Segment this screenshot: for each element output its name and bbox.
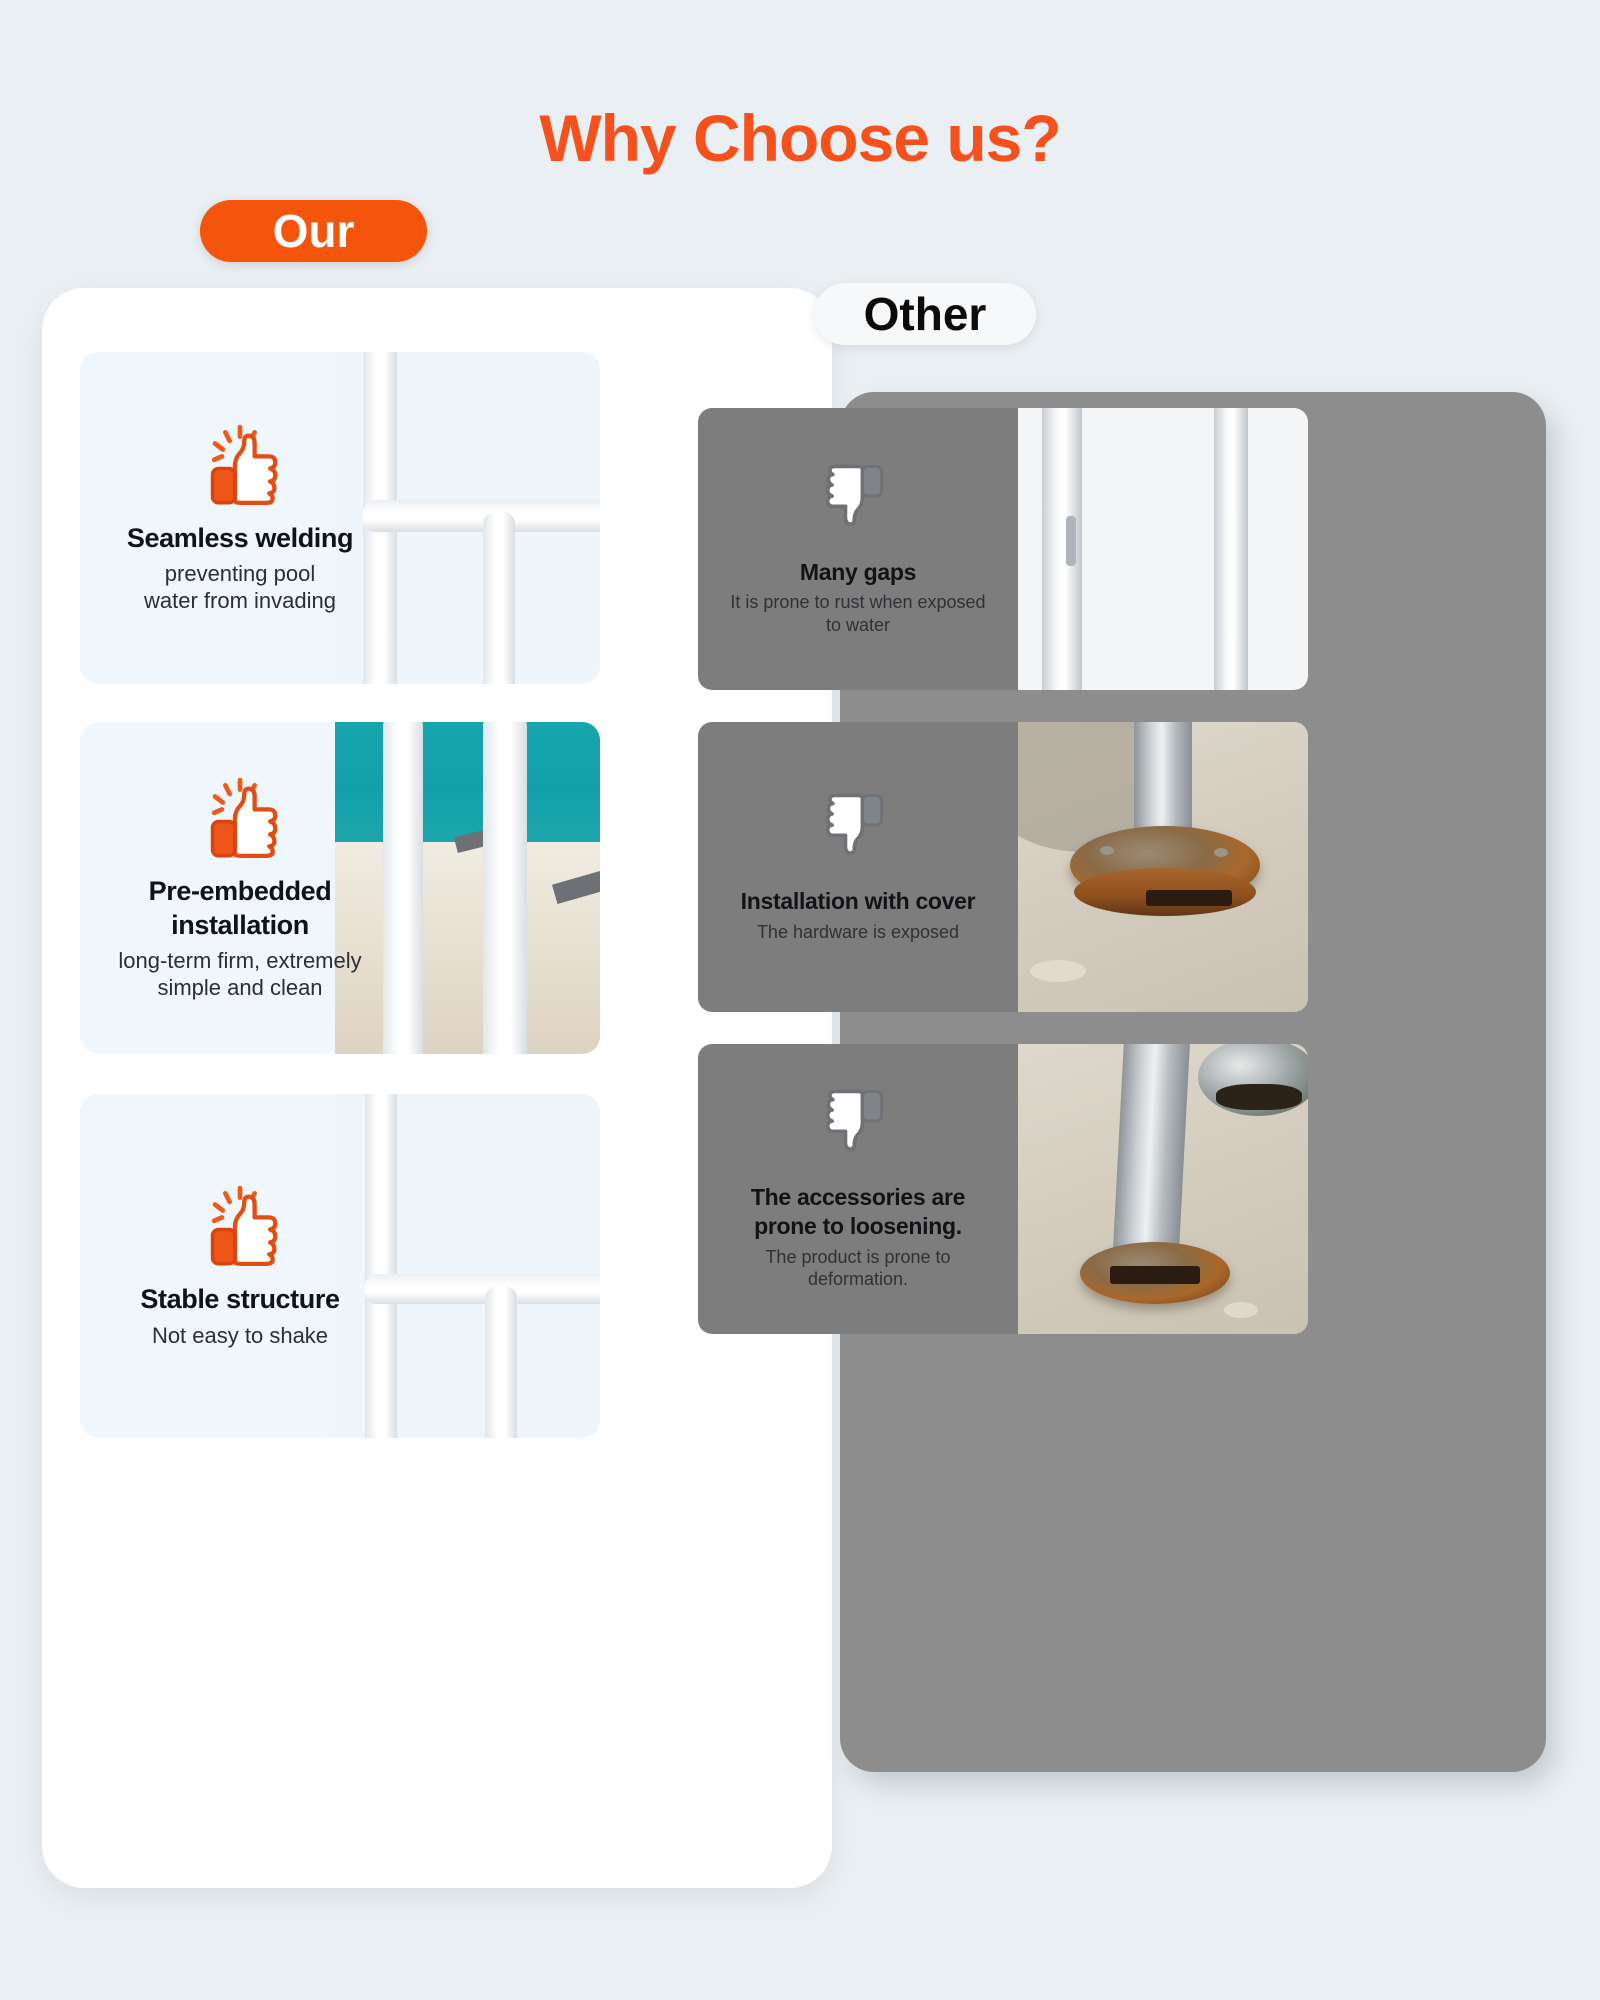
our-card-pre-embedded-installation: Pre-embedded installation long-term firm…: [80, 722, 600, 1054]
thumbs-up-icon: [197, 1183, 283, 1269]
our-card-subtitle-line1: Not easy to shake: [152, 1323, 328, 1349]
thumbs-down-icon: [821, 462, 895, 536]
other-badge: Other: [814, 283, 1036, 345]
our-card-text: Pre-embedded installation long-term firm…: [80, 722, 400, 1054]
our-badge: Our: [200, 200, 427, 262]
other-card-many-gaps: Many gaps It is prone to rust when expos…: [698, 408, 1308, 690]
thumbs-down-icon: [821, 1087, 895, 1161]
our-card-text: Stable structure Not easy to shake: [80, 1094, 400, 1438]
rusted-flange-cover-photo: [1018, 722, 1308, 1012]
our-card-heading-line1: Pre-embedded: [149, 875, 332, 909]
gapped-metal-rail-joint-photo: [1018, 408, 1308, 690]
our-card-stable-structure: Stable structure Not easy to shake: [80, 1094, 600, 1438]
other-badge-label: Other: [864, 287, 987, 341]
our-card-heading: Stable structure: [140, 1283, 339, 1317]
other-card-text: Installation with cover The hardware is …: [698, 722, 1018, 1012]
other-card-subtitle-line1: It is prone to rust when exposed: [730, 591, 985, 614]
thumbs-up-icon: [197, 775, 283, 861]
other-card-text: The accessories are prone to loosening. …: [698, 1044, 1018, 1334]
other-card-accessories-loosening: The accessories are prone to loosening. …: [698, 1044, 1308, 1334]
our-card-subtitle-line2: water from invading: [144, 588, 336, 614]
other-panel: Many gaps It is prone to rust when expos…: [840, 392, 1546, 1772]
page-title: Why Choose us?: [0, 100, 1600, 176]
other-card-subtitle-line1: The hardware is exposed: [757, 921, 959, 944]
thumbs-down-icon: [821, 791, 895, 865]
loose-rusted-post-base-photo: [1018, 1044, 1308, 1334]
our-card-heading: Seamless welding: [127, 522, 353, 556]
other-card-installation-with-cover: Installation with cover The hardware is …: [698, 722, 1308, 1012]
other-card-subtitle-line2: deformation.: [808, 1268, 908, 1291]
our-badge-label: Our: [273, 204, 355, 258]
other-card-heading-line1: Many gaps: [800, 558, 916, 587]
our-card-subtitle-line1: preventing pool: [165, 561, 315, 587]
our-card-heading-line2: installation: [171, 909, 309, 943]
other-card-heading-line1: Installation with cover: [741, 887, 976, 916]
our-card-subtitle-line2: simple and clean: [157, 975, 322, 1001]
other-card-heading-line2: prone to loosening.: [754, 1212, 962, 1241]
other-card-subtitle-line1: The product is prone to: [765, 1246, 950, 1269]
other-card-text: Many gaps It is prone to rust when expos…: [698, 408, 1018, 690]
our-card-subtitle-line1: long-term firm, extremely: [118, 948, 361, 974]
other-card-heading-line1: The accessories are: [751, 1183, 965, 1212]
our-card-text: Seamless welding preventing pool water f…: [80, 352, 400, 684]
other-card-subtitle-line2: to water: [826, 614, 890, 637]
our-card-seamless-welding: Seamless welding preventing pool water f…: [80, 352, 600, 684]
thumbs-up-icon: [197, 422, 283, 508]
